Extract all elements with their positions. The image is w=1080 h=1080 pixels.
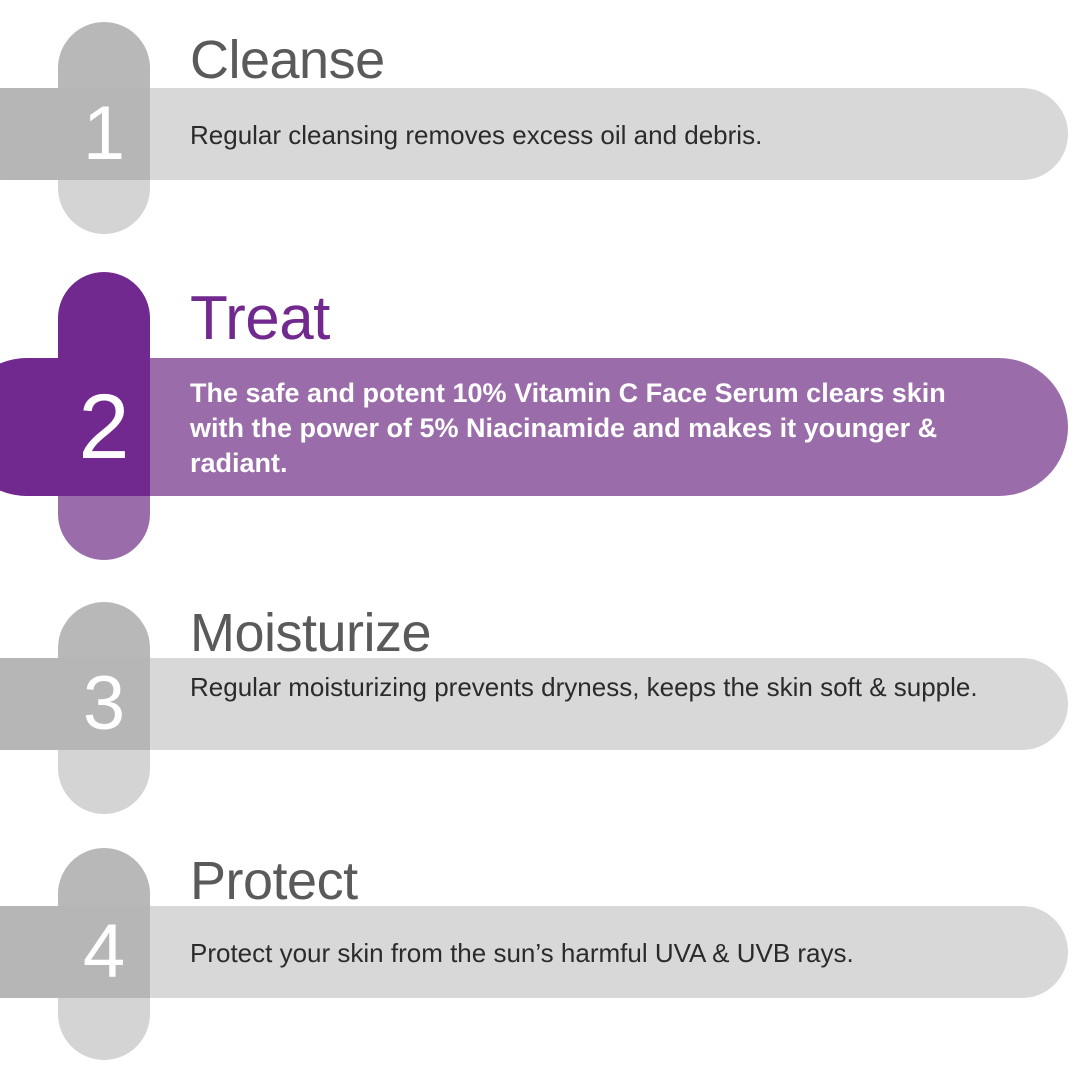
step-description-1: Regular cleansing removes excess oil and… [190, 118, 980, 152]
step-heading-3: Moisturize [190, 606, 431, 660]
step-item-3[interactable]: 3 Moisturize Regular moisturizing preven… [0, 588, 1080, 840]
step-heading-2: Treat [190, 288, 330, 350]
step-heading-1: Cleanse [190, 33, 385, 87]
step-item-4[interactable]: 4 Protect Protect your skin from the sun… [0, 832, 1080, 1080]
step-heading-4: Protect [190, 854, 358, 908]
step-description-3: Regular moisturizing prevents dryness, k… [190, 670, 990, 704]
step-number-2: 2 [58, 358, 150, 496]
step-number-3: 3 [58, 658, 150, 750]
step-number-4: 4 [58, 906, 150, 998]
step-description-4: Protect your skin from the sun’s harmful… [190, 936, 980, 970]
skincare-steps-infographic: 1 Cleanse Regular cleansing removes exce… [0, 0, 1080, 1080]
step-item-2[interactable]: 2 Treat The safe and potent 10% Vitamin … [0, 264, 1080, 564]
step-number-1: 1 [58, 88, 150, 180]
step-item-1[interactable]: 1 Cleanse Regular cleansing removes exce… [0, 0, 1080, 252]
step-description-2: The safe and potent 10% Vitamin C Face S… [190, 376, 965, 481]
